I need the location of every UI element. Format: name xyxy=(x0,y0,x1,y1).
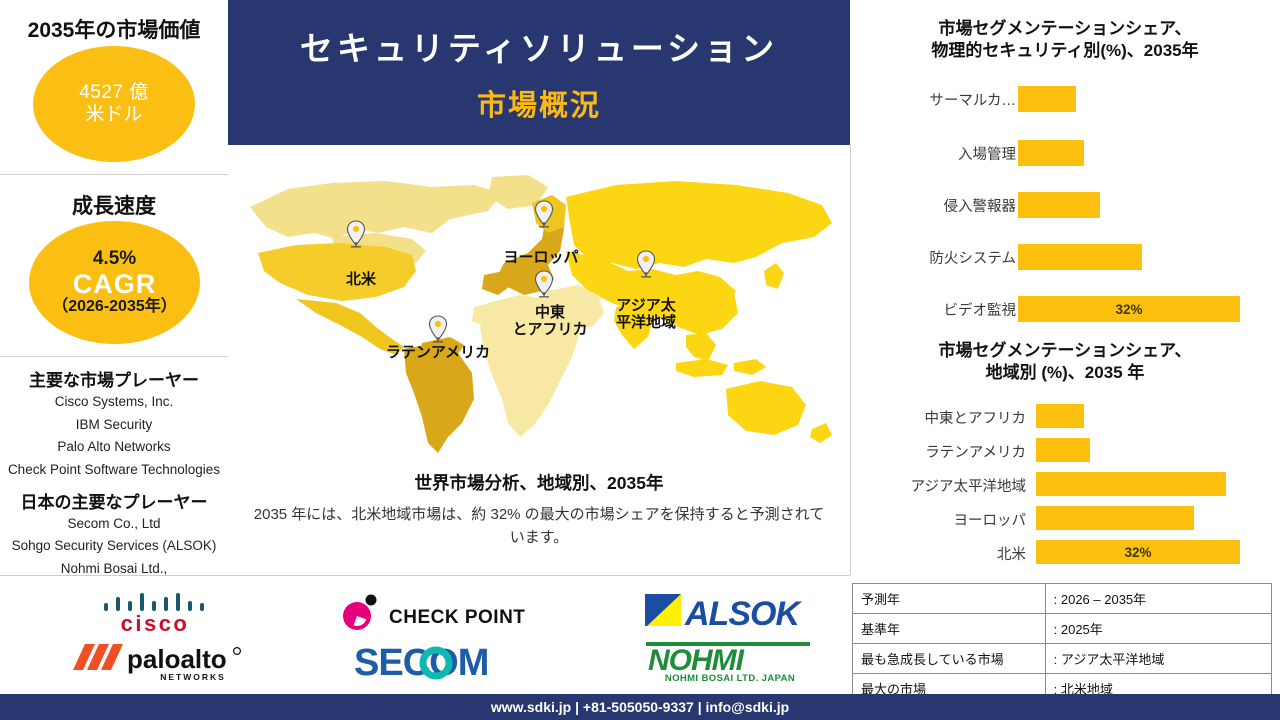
palo-alto-logo-subtext: NETWORKS xyxy=(160,672,226,682)
map-pin-latin-america xyxy=(428,315,448,343)
page-header: セキュリティソリューション 市場概況 xyxy=(228,0,850,145)
map-pin-north-america xyxy=(346,220,366,248)
table-cell-key: 予測年 xyxy=(853,584,1046,614)
table-row: 予測年 : 2026 – 2035年 xyxy=(853,584,1272,614)
chart1-title-line1: 市場セグメンテーションシェア、 xyxy=(850,18,1280,40)
chart1-bar xyxy=(1018,192,1100,218)
chart1-bar-value: 32% xyxy=(1115,302,1142,317)
palo-alto-logo-text: paloalto xyxy=(127,644,227,674)
key-players-heading: 主要な市場プレーヤー xyxy=(0,366,228,391)
map-label-middle-east-africa: 中東 とアフリカ xyxy=(490,305,610,339)
chart2-bar-label: アジア太平洋地域 xyxy=(850,472,1026,498)
chart1-bar-label: 侵入警報器 xyxy=(850,192,1016,218)
chart2-bar-row: アジア太平洋地域 xyxy=(850,472,1280,498)
chart2-title-line2: 地域別 (%)、2035 年 xyxy=(850,362,1280,384)
market-info-table: 予測年 : 2026 – 2035年 基準年 : 2025年 最も急成長している… xyxy=(852,583,1272,704)
logo-strip: cisco CHECK POINT ALSOK paloalto xyxy=(0,575,850,693)
chart1-bar-row: ビデオ監視 32% xyxy=(850,296,1280,322)
chart1-bar xyxy=(1018,86,1076,112)
list-item: Sohgo Security Services (ALSOK) xyxy=(0,535,228,558)
key-players-section: 主要な市場プレーヤー Cisco Systems, Inc. IBM Secur… xyxy=(0,366,228,581)
chart2-bar-row: ヨーロッパ xyxy=(850,506,1280,532)
list-item: Cisco Systems, Inc. xyxy=(0,391,228,414)
list-item: Palo Alto Networks xyxy=(0,436,228,459)
divider-1 xyxy=(0,174,228,175)
cagr-period: （2026-2035年） xyxy=(52,298,177,316)
chart1-bar xyxy=(1018,140,1084,166)
footer-contact-text: www.sdki.jp | +81-505050-9337 | info@sdk… xyxy=(491,699,789,715)
chart1-bar xyxy=(1018,244,1142,270)
chart2-bar-value: 32% xyxy=(1124,545,1151,560)
chart2-bar-label: ヨーロッパ xyxy=(850,506,1026,532)
chart2-bar xyxy=(1036,506,1194,530)
map-pin-europe xyxy=(534,200,554,228)
growth-rate-title: 成長速度 xyxy=(0,190,228,220)
chart2-bar-label: ラテンアメリカ xyxy=(850,438,1026,464)
japan-players-list: Secom Co., Ltd Sohgo Security Services (… xyxy=(0,513,228,581)
page-subtitle: 市場概況 xyxy=(477,82,601,124)
cagr-value: 4.5% xyxy=(93,248,136,270)
map-label-north-america: 北米 xyxy=(326,272,396,289)
table-row: 基準年 : 2025年 xyxy=(853,614,1272,644)
chart2-title-line1: 市場セグメンテーションシェア、 xyxy=(850,340,1280,362)
chart2-bar-label: 中東とアフリカ xyxy=(850,404,1026,430)
map-caption: 世界市場分析、地域別、2035年 xyxy=(228,470,850,495)
chart1-bar-row: 侵入警報器 xyxy=(850,192,1280,218)
table-cell-value: : アジア太平洋地域 xyxy=(1045,644,1271,674)
map-pin-middle-east-africa xyxy=(534,270,554,298)
logo-strip-divider xyxy=(0,575,850,576)
chart1-bar-label: サーマルカ… xyxy=(850,86,1016,112)
key-players-list: Cisco Systems, Inc. IBM Security Palo Al… xyxy=(0,391,228,482)
chart2-bar xyxy=(1036,472,1226,496)
palo-alto-logo: paloalto NETWORKS xyxy=(60,637,260,685)
chart2-bar-row: 中東とアフリカ xyxy=(850,404,1280,430)
check-point-logo: CHECK POINT xyxy=(330,589,550,635)
world-map-panel: 北米 ヨーロッパ アジア太 平洋地域 中東 とアフリカ ラテンアメリカ 世界市場… xyxy=(228,145,850,575)
nohmi-logo-subtext: NOHMI BOSAI LTD. JAPAN xyxy=(665,673,795,684)
list-item: Secom Co., Ltd xyxy=(0,513,228,536)
chart2-bar: 32% xyxy=(1036,540,1240,564)
map-label-europe: ヨーロッパ xyxy=(476,250,606,267)
chart2-bar-label: 北米 xyxy=(850,540,1026,566)
chart2-bar xyxy=(1036,438,1090,462)
list-item: IBM Security xyxy=(0,414,228,437)
chart1-title: 市場セグメンテーションシェア、 物理的セキュリティ別(%)、2035年 xyxy=(850,18,1280,62)
table-cell-key: 基準年 xyxy=(853,614,1046,644)
page-title: セキュリティソリューション xyxy=(300,22,778,70)
market-value-amount: 4527 億 xyxy=(79,82,149,104)
chart1-title-line2: 物理的セキュリティ別(%)、2035年 xyxy=(850,40,1280,62)
market-value-title: 2035年の市場価値 xyxy=(0,14,228,44)
secom-logo: SECOM xyxy=(340,637,540,685)
chart2-bar-row: ラテンアメリカ xyxy=(850,438,1280,464)
chart1-bar-label: 入場管理 xyxy=(850,140,1016,166)
map-description: 2035 年には、北米地域市場は、約 32% の最大の市場シェアを保持すると予測… xyxy=(250,503,828,550)
chart2-bar-row: 北米 32% xyxy=(850,540,1280,566)
table-cell-value: : 2025年 xyxy=(1045,614,1271,644)
divider-2 xyxy=(0,356,228,357)
map-label-latin-america: ラテンアメリカ xyxy=(343,345,533,362)
table-cell-key: 最も急成長している市場 xyxy=(853,644,1046,674)
chart1-bar-label: ビデオ監視 xyxy=(850,296,1016,322)
table-cell-value: : 2026 – 2035年 xyxy=(1045,584,1271,614)
chart1-bar-row: サーマルカ… xyxy=(850,86,1280,112)
check-point-logo-text: CHECK POINT xyxy=(389,607,525,628)
table-row: 最も急成長している市場 : アジア太平洋地域 xyxy=(853,644,1272,674)
growth-rate-bubble: 4.5% CAGR （2026-2035年） xyxy=(29,221,200,344)
chart1-bar-row: 入場管理 xyxy=(850,140,1280,166)
chart2-bar xyxy=(1036,404,1084,428)
chart1-bar-label: 防火システム xyxy=(850,244,1016,270)
cagr-label: CAGR xyxy=(73,270,157,298)
footer-bar: www.sdki.jp | +81-505050-9337 | info@sdk… xyxy=(0,694,1280,720)
alsok-logo: ALSOK xyxy=(622,587,842,633)
map-pin-asia-pacific xyxy=(636,250,656,278)
nohmi-logo: NOHMI NOHMI BOSAI LTD. JAPAN xyxy=(620,637,840,685)
chart1-bar: 32% xyxy=(1018,296,1240,322)
market-value-currency: 米ドル xyxy=(85,104,142,126)
cisco-logo: cisco xyxy=(60,589,250,635)
chart1-bar-row: 防火システム xyxy=(850,244,1280,270)
alsok-logo-text: ALSOK xyxy=(684,595,802,632)
cisco-logo-text: cisco xyxy=(121,611,190,635)
japan-players-heading: 日本の主要なプレーヤー xyxy=(0,488,228,513)
left-summary-panel: 2035年の市場価値 4527 億 米ドル 成長速度 4.5% CAGR （20… xyxy=(0,0,228,575)
chart2-title: 市場セグメンテーションシェア、 地域別 (%)、2035 年 xyxy=(850,340,1280,384)
market-value-bubble: 4527 億 米ドル xyxy=(33,46,195,162)
list-item: Check Point Software Technologies xyxy=(0,459,228,482)
